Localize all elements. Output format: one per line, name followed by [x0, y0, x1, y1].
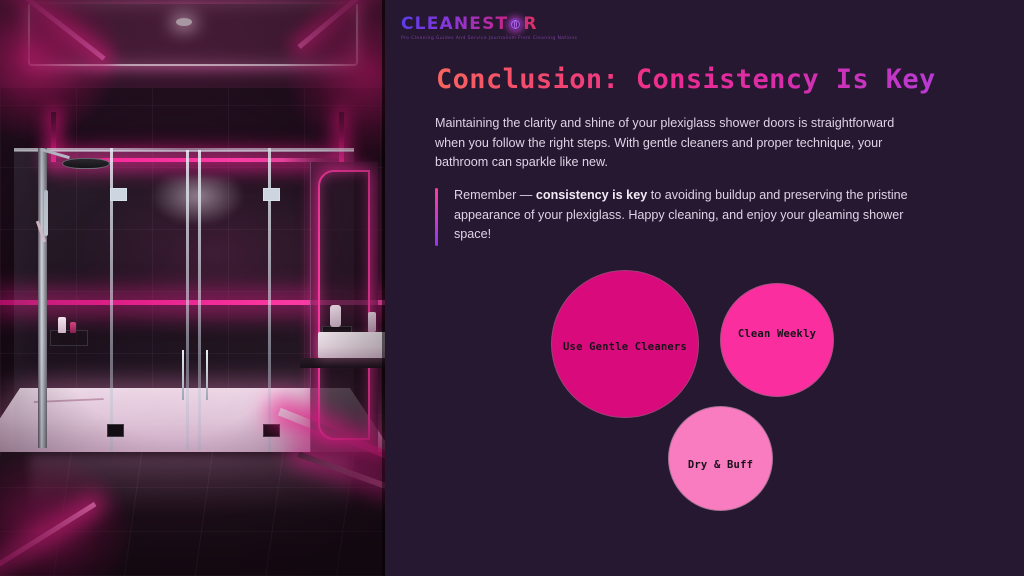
brand-name: CLEANESTR [401, 14, 577, 34]
callout-emphasis: consistency is key [536, 188, 647, 202]
washbasin [318, 332, 385, 358]
lead-paragraph: Maintaining the clarity and shine of you… [435, 114, 922, 173]
glass-mullion [198, 150, 201, 450]
shower-shelf [50, 330, 88, 346]
bubble-use-gentle-cleaners[interactable]: Use Gentle Cleaners [551, 270, 699, 418]
brand-tagline: Pro Cleaning Guides And Service Journali… [401, 36, 577, 41]
downlight [176, 18, 192, 26]
soap-bottle [330, 305, 341, 327]
brand-name-part2: R [523, 14, 537, 34]
bubble-dry-and-buff[interactable]: Dry & Buff [668, 406, 773, 511]
brand-logo[interactable]: CLEANESTR Pro Cleaning Guides And Servic… [401, 14, 577, 41]
soap-dispenser [368, 312, 376, 332]
shower-door-handle [206, 350, 208, 400]
hand-shower [44, 190, 48, 236]
neon-glow-bottom-left [0, 456, 130, 576]
brand-name-part1: CLEANEST [401, 14, 508, 34]
door-hinge [263, 424, 280, 437]
rain-showerhead [62, 158, 110, 169]
shower-door-handle [182, 350, 184, 400]
bubble-label: Use Gentle Cleaners [563, 342, 687, 354]
door-hinge [107, 424, 124, 437]
hero-photo [0, 0, 385, 576]
callout-blockquote: Remember — consistency is key to avoidin… [435, 186, 922, 245]
neon-mirror-frame [318, 170, 370, 440]
bubble-label: Clean Weekly [738, 329, 816, 341]
slide: CLEANESTR Pro Cleaning Guides And Servic… [0, 0, 1024, 576]
vanity-counter [300, 358, 385, 368]
callout-accent-bar [435, 188, 438, 246]
glass-mullion [186, 150, 189, 450]
soap-bottle [70, 322, 76, 333]
bubble-clean-weekly[interactable]: Clean Weekly [720, 283, 834, 397]
neon-glow-top-right [285, 0, 385, 160]
soap-bottle [58, 317, 66, 333]
door-hinge [263, 188, 280, 201]
page-title: Conclusion: Consistency Is Key [436, 64, 936, 95]
bubble-label: Dry & Buff [688, 460, 753, 472]
content-panel: CLEANESTR Pro Cleaning Guides And Servic… [385, 0, 1024, 576]
globe-icon [509, 18, 522, 31]
door-hinge [110, 188, 127, 201]
callout-prefix: Remember — [454, 188, 536, 202]
glass-shower-enclosure [14, 150, 354, 450]
